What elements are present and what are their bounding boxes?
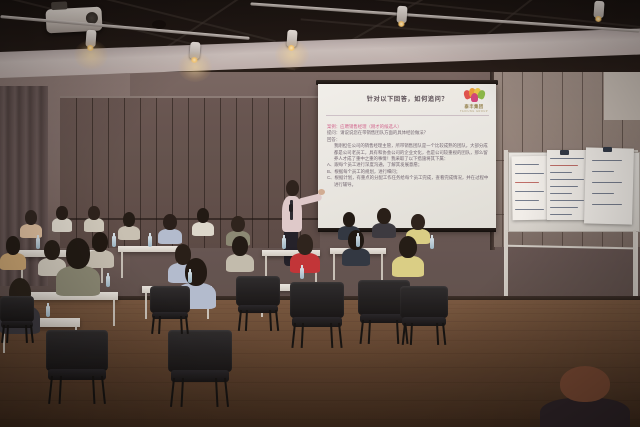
presenter-mic bbox=[289, 204, 293, 212]
wall-slat bbox=[76, 98, 77, 248]
chair-leg bbox=[442, 323, 446, 345]
chair-leg bbox=[101, 376, 106, 404]
handwritten-line bbox=[515, 191, 544, 192]
handwritten-line bbox=[550, 172, 572, 173]
handwritten-line bbox=[592, 204, 622, 205]
water-bottle bbox=[106, 276, 110, 287]
audience-3-torso bbox=[84, 218, 104, 231]
audience-foreground-torso bbox=[540, 398, 630, 427]
board-leg-left bbox=[505, 230, 508, 306]
water-bottle bbox=[112, 236, 116, 247]
handwritten-line bbox=[550, 200, 584, 201]
audience-9-torso bbox=[372, 223, 396, 238]
chair-leg bbox=[436, 323, 439, 345]
water-bottle bbox=[148, 236, 152, 247]
audience-7-head bbox=[231, 216, 244, 232]
chair-leg bbox=[180, 316, 183, 334]
chair-leg bbox=[275, 310, 279, 331]
chair-row-f bbox=[0, 296, 34, 340]
chair-front-left bbox=[46, 330, 108, 400]
water-bottle bbox=[356, 236, 360, 247]
handwritten-line bbox=[515, 164, 539, 165]
audience-1-head bbox=[25, 210, 37, 225]
audience-6-head bbox=[197, 208, 209, 223]
chair-leg bbox=[181, 377, 185, 406]
handwritten-line bbox=[550, 186, 578, 187]
chair-leg bbox=[360, 319, 364, 343]
handwritten-line bbox=[592, 182, 622, 183]
handwritten-line bbox=[550, 179, 584, 180]
audience-11-head bbox=[6, 236, 21, 255]
audience-12-head bbox=[44, 240, 60, 260]
audience-6-torso bbox=[192, 222, 214, 236]
audience-4-torso bbox=[118, 226, 140, 240]
table-row2-mid-leg-l bbox=[145, 293, 147, 319]
chair-seat bbox=[48, 369, 105, 380]
chair-back bbox=[400, 286, 448, 318]
water-bottle bbox=[188, 272, 192, 283]
flipchart-sheet-right bbox=[584, 147, 634, 224]
ceiling-fixture bbox=[152, 20, 166, 29]
handwritten-line bbox=[550, 207, 578, 208]
chair-back bbox=[150, 286, 190, 313]
presenter-hand bbox=[318, 189, 325, 195]
table-row1-far-leg-r bbox=[381, 254, 383, 280]
chair-front-mid bbox=[168, 330, 232, 402]
chair-back bbox=[168, 330, 232, 372]
wall-slat bbox=[108, 98, 109, 248]
table-row1-mid-leg-l bbox=[121, 252, 123, 278]
handwritten-line bbox=[550, 165, 578, 166]
wall-slat bbox=[268, 98, 269, 248]
audience-3-head bbox=[88, 206, 99, 220]
chair-seat bbox=[238, 305, 278, 313]
audience-front-1-head bbox=[66, 238, 91, 269]
audience-2-head bbox=[56, 206, 67, 220]
audience-13-head bbox=[92, 232, 108, 252]
chair-leg bbox=[269, 310, 272, 331]
audience-10-head bbox=[411, 214, 424, 230]
chair-leg bbox=[170, 377, 175, 406]
wall-slat bbox=[188, 98, 189, 248]
audience-13-torso bbox=[86, 250, 114, 269]
chair-leg bbox=[301, 323, 304, 348]
presentation-slide: 泰丰集团 TAIFUNG GROUP 针对以下回答，如何追问？ 案例：应聘销售经… bbox=[318, 84, 496, 230]
spotlight-glow-2 bbox=[178, 52, 212, 82]
handwritten-line bbox=[550, 193, 572, 194]
chair-leg bbox=[58, 376, 61, 404]
spotlight-glow-1 bbox=[74, 40, 108, 70]
chair-leg bbox=[48, 376, 53, 404]
water-bottle bbox=[282, 238, 286, 249]
water-bottle bbox=[36, 238, 40, 249]
presenter-head bbox=[286, 180, 299, 196]
handwritten-line bbox=[550, 214, 572, 215]
wall-slat bbox=[220, 98, 221, 248]
spotlight-glow-3 bbox=[275, 40, 309, 70]
flipchart-clip-center bbox=[560, 150, 569, 155]
chair-leg bbox=[92, 376, 95, 404]
chair-row-e bbox=[150, 286, 190, 332]
wall-slat bbox=[252, 98, 253, 248]
chair-leg bbox=[237, 310, 241, 331]
wall-slat bbox=[156, 98, 157, 248]
chair-seat bbox=[292, 317, 342, 327]
spotlight-4 bbox=[396, 6, 407, 24]
chair-leg bbox=[151, 316, 155, 334]
audience-11-torso bbox=[0, 253, 26, 271]
chair-seat bbox=[171, 370, 230, 382]
water-bottle bbox=[46, 306, 50, 317]
board-leg-right bbox=[633, 230, 636, 304]
audience-8-head bbox=[343, 212, 355, 227]
water-bottle bbox=[300, 268, 304, 279]
chair-row-c bbox=[400, 286, 448, 342]
chair-leg bbox=[1, 325, 5, 343]
chair-back bbox=[290, 282, 344, 318]
flipchart-sheet-left bbox=[511, 156, 548, 221]
chair-back bbox=[0, 296, 34, 322]
chair-leg bbox=[30, 325, 34, 343]
audience-9-head bbox=[377, 208, 390, 224]
audience-front-1-torso bbox=[56, 266, 100, 296]
chair-leg bbox=[401, 323, 405, 345]
handwritten-line bbox=[515, 173, 544, 174]
water-bottle bbox=[430, 238, 434, 249]
chair-back bbox=[236, 276, 280, 306]
slide-title: 针对以下回答，如何追问？ bbox=[326, 94, 489, 103]
handwritten-line bbox=[592, 171, 614, 172]
audience-16-torso bbox=[290, 253, 320, 273]
slide-body: 案例：应聘销售经理（刚才的候选人）提问：请说说您在带销售团队方面的具体经验做法？… bbox=[327, 124, 488, 188]
audience-16-head bbox=[297, 234, 314, 255]
chair-back bbox=[46, 330, 108, 371]
handwritten-line bbox=[515, 209, 544, 210]
chair-row-d bbox=[236, 276, 280, 328]
audience-17-torso bbox=[342, 248, 370, 267]
slide-line-10: 进行辅导。 bbox=[327, 182, 488, 188]
chair-row-a bbox=[290, 282, 344, 344]
audience-15-head bbox=[232, 236, 248, 256]
audience-foreground-head bbox=[560, 366, 610, 402]
chair-leg bbox=[185, 316, 189, 334]
table-row2-left-leg-r bbox=[113, 300, 115, 326]
chair-seat bbox=[152, 312, 189, 319]
projection-screen: 泰丰集团 TAIFUNG GROUP 针对以下回答，如何追问？ 案例：应聘销售经… bbox=[318, 84, 496, 230]
flipchart-sheet-center bbox=[547, 150, 589, 220]
audience-5-head bbox=[163, 214, 176, 230]
audience-4-head bbox=[123, 212, 135, 227]
chair-leg bbox=[409, 323, 412, 345]
handwritten-line bbox=[592, 160, 622, 161]
flipchart-clip-right bbox=[603, 147, 612, 152]
table-row1-far-leg-l bbox=[333, 254, 335, 280]
wall-slat bbox=[140, 98, 141, 248]
audience-18-torso bbox=[392, 256, 424, 277]
seminar-room-photo: 泰丰集团 TAIFUNG GROUP 针对以下回答，如何追问？ 案例：应聘销售经… bbox=[0, 0, 640, 427]
audience-15-torso bbox=[226, 254, 254, 273]
handwritten-line bbox=[550, 158, 584, 159]
handwritten-line bbox=[515, 200, 539, 201]
chair-seat bbox=[402, 317, 446, 326]
chair-leg bbox=[338, 323, 343, 348]
audience-2-torso bbox=[52, 218, 72, 231]
logo-name-en: TAIFUNG GROUP bbox=[459, 110, 489, 113]
spotlight-5 bbox=[593, 1, 604, 19]
slide-title-rule bbox=[326, 115, 489, 116]
audience-18-head bbox=[399, 236, 417, 258]
handwritten-line bbox=[592, 193, 614, 194]
handwritten-line bbox=[515, 182, 539, 183]
audience-5-torso bbox=[158, 229, 182, 244]
